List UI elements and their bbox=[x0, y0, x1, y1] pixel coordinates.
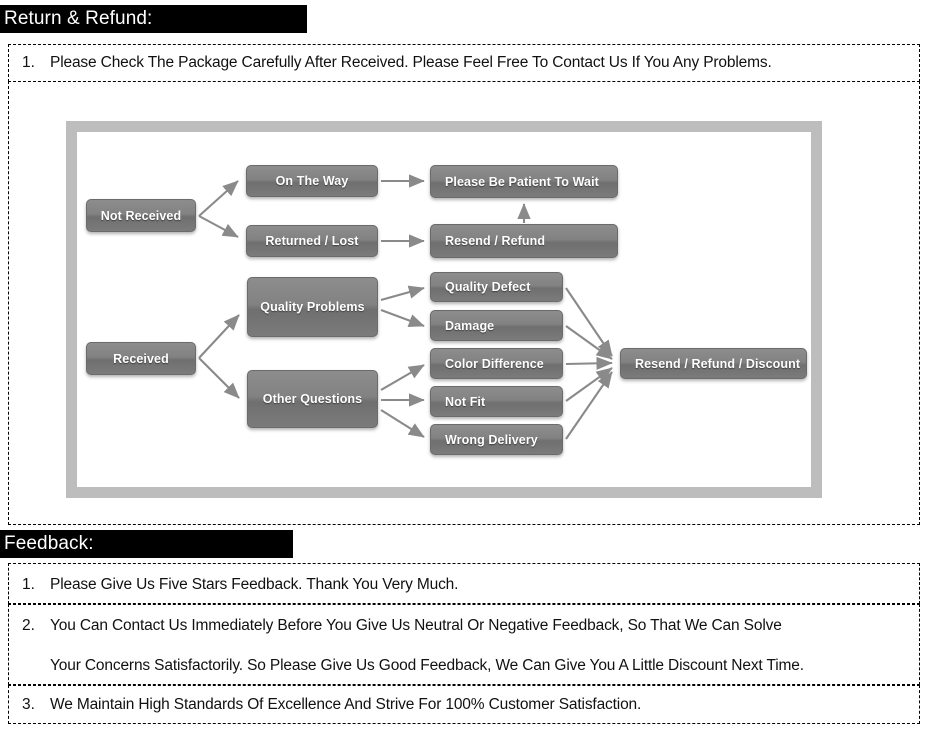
flow-node-label: Wrong Delivery bbox=[445, 433, 538, 447]
flow-node-quality-problems[interactable]: Quality Problems bbox=[247, 277, 378, 337]
flow-node-damage[interactable]: Damage bbox=[430, 310, 563, 341]
flow-node-label: Returned / Lost bbox=[265, 234, 358, 248]
feedback-item-2-number: 2. bbox=[22, 616, 35, 636]
page-root: Return & Refund: 1. Please Check The Pac… bbox=[0, 0, 928, 729]
flow-node-label: On The Way bbox=[276, 174, 349, 188]
flow-node-label: Please Be Patient To Wait bbox=[445, 175, 599, 189]
feedback-item-1-text: Please Give Us Five Stars Feedback. Than… bbox=[50, 575, 458, 595]
flow-node-label: Other Questions bbox=[263, 392, 362, 406]
flow-node-label: Color Difference bbox=[445, 357, 544, 371]
feedback-item-1-number: 1. bbox=[22, 575, 35, 595]
feedback-item-3-number: 3. bbox=[22, 695, 35, 715]
flow-node-other-questions[interactable]: Other Questions bbox=[247, 370, 378, 428]
flow-node-returned-lost[interactable]: Returned / Lost bbox=[246, 225, 378, 257]
flow-node-label: Resend / Refund bbox=[445, 234, 545, 248]
flow-node-label: Not Fit bbox=[445, 395, 485, 409]
flow-node-label: Damage bbox=[445, 319, 494, 333]
flow-node-label: Not Received bbox=[101, 209, 181, 223]
feedback-item-2-text-line1: You Can Contact Us Immediately Before Yo… bbox=[50, 616, 782, 636]
flow-node-please-be-patient[interactable]: Please Be Patient To Wait bbox=[430, 165, 618, 198]
flow-node-label: Quality Problems bbox=[260, 300, 364, 314]
flow-node-not-fit[interactable]: Not Fit bbox=[430, 386, 563, 417]
flow-node-received[interactable]: Received bbox=[86, 342, 196, 375]
flow-node-label: Resend / Refund / Discount bbox=[635, 357, 800, 371]
flow-node-on-the-way[interactable]: On The Way bbox=[246, 165, 378, 197]
flow-node-not-received[interactable]: Not Received bbox=[86, 199, 196, 232]
flow-node-label: Quality Defect bbox=[445, 280, 530, 294]
feedback-item-2-text-line2: Your Concerns Satisfactorily. So Please … bbox=[50, 656, 804, 676]
flow-node-resend-refund-discount[interactable]: Resend / Refund / Discount bbox=[620, 348, 807, 379]
flow-node-color-difference[interactable]: Color Difference bbox=[430, 348, 563, 379]
flow-node-label: Received bbox=[113, 352, 169, 366]
flow-node-quality-defect[interactable]: Quality Defect bbox=[430, 272, 563, 302]
flow-node-wrong-delivery[interactable]: Wrong Delivery bbox=[430, 424, 563, 455]
flow-node-resend-refund[interactable]: Resend / Refund bbox=[430, 224, 618, 258]
feedback-item-3-text: We Maintain High Standards Of Excellence… bbox=[50, 695, 641, 715]
section-header-feedback: Feedback: bbox=[0, 530, 293, 558]
